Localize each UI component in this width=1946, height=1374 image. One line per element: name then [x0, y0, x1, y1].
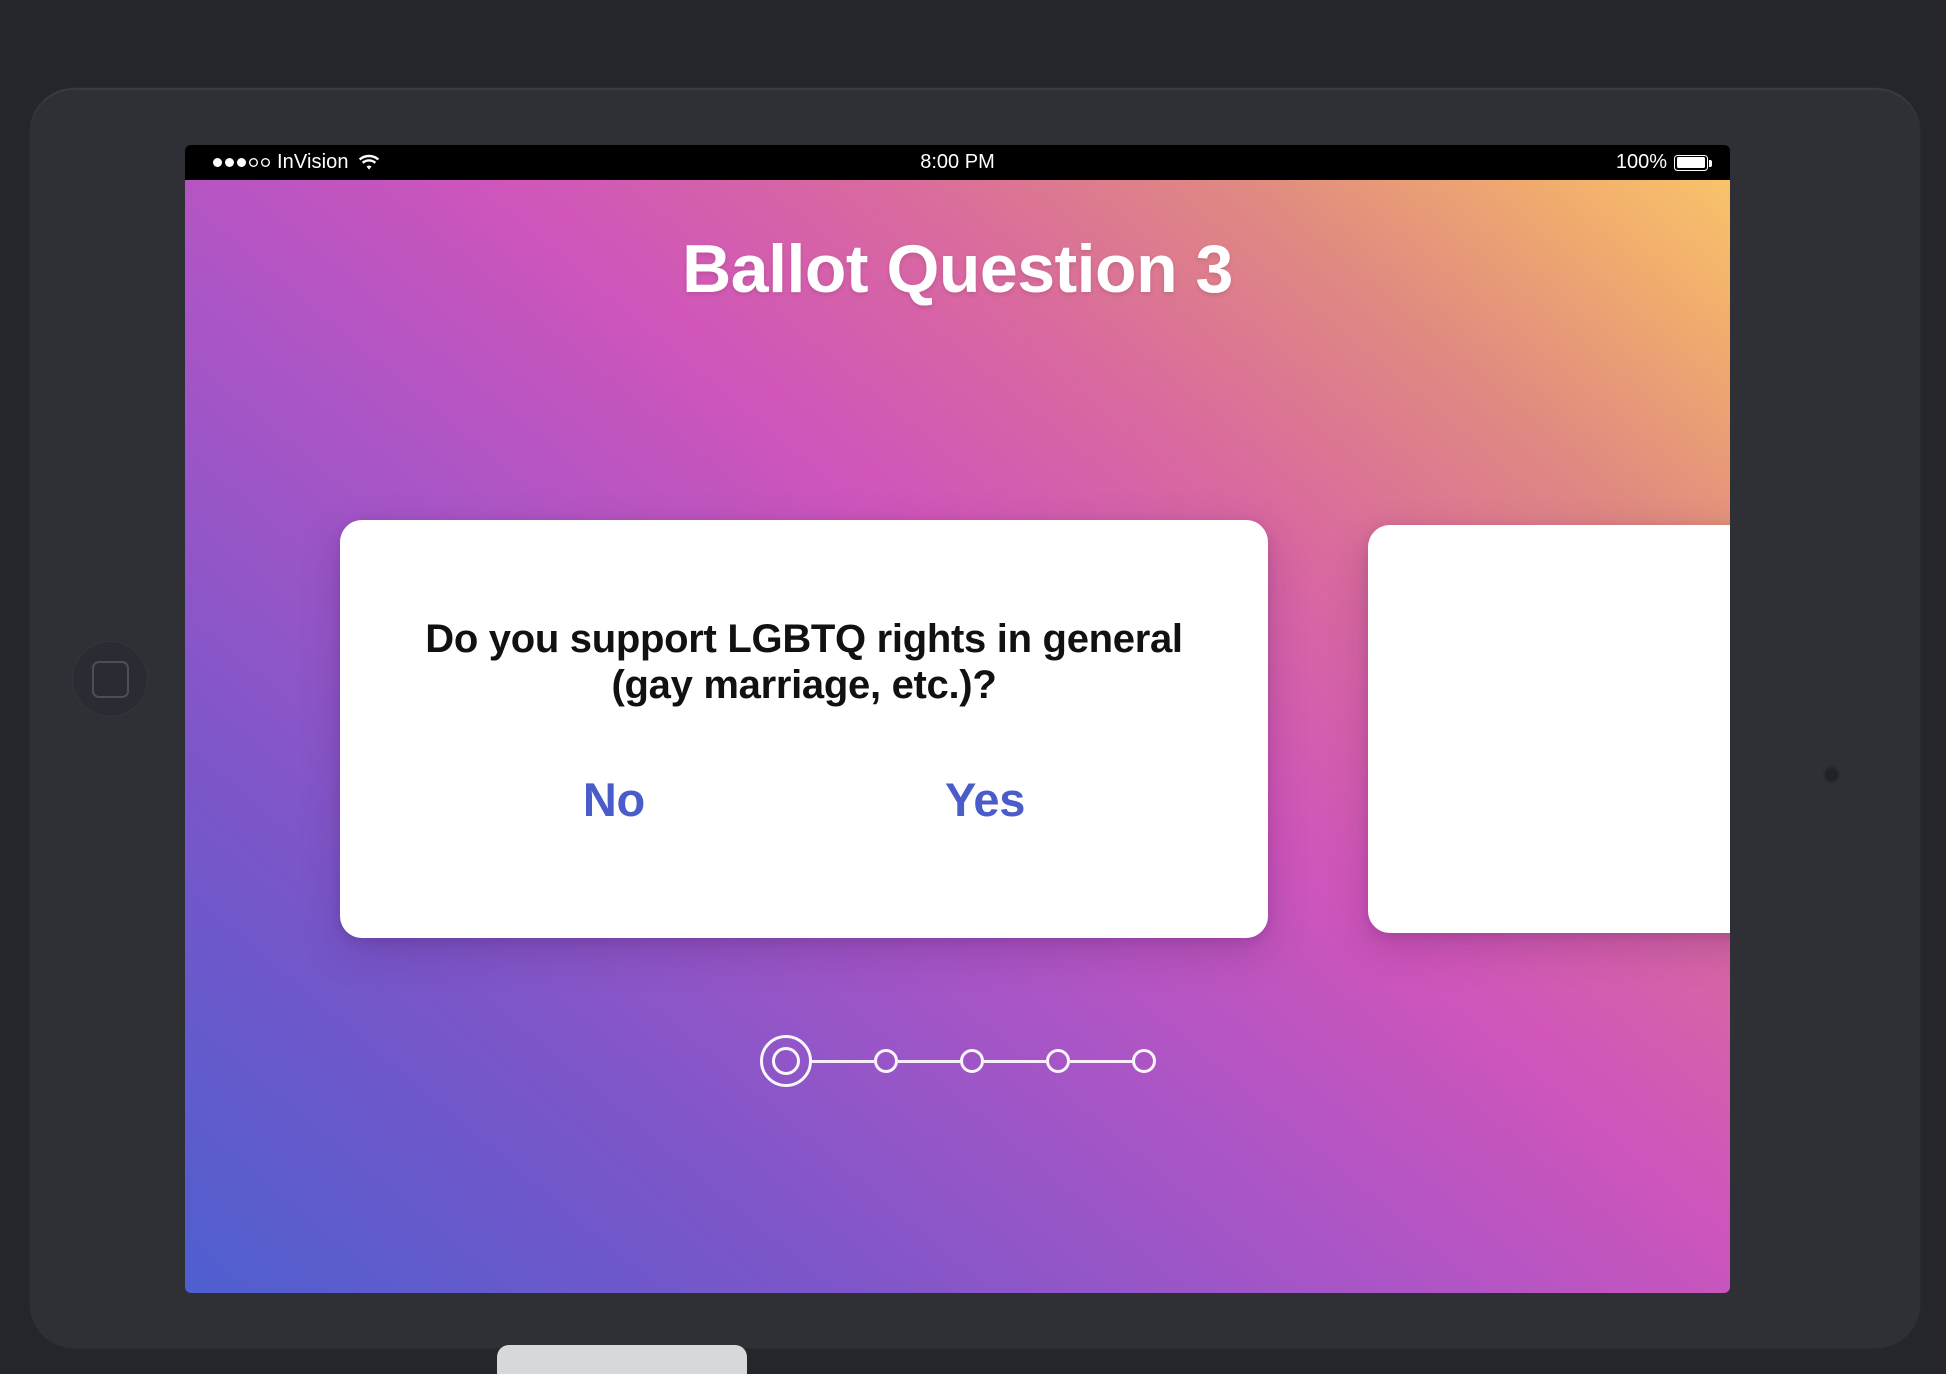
- app-background: Ballot Question 3 Do you support LGBTQ r…: [185, 180, 1730, 1293]
- step-dot-2[interactable]: [874, 1049, 898, 1073]
- bottom-sheet-handle[interactable]: [497, 1345, 747, 1374]
- question-card: Do you support LGBTQ rights in general (…: [340, 520, 1268, 938]
- step-dot-1-inner: [772, 1047, 800, 1075]
- answer-yes-button[interactable]: Yes: [945, 772, 1025, 827]
- step-dot-5[interactable]: [1132, 1049, 1156, 1073]
- status-bar-right: 100%: [1616, 151, 1708, 174]
- device-frame: InVision 8:00 PM 100%: [30, 88, 1920, 1348]
- step-dot-1[interactable]: [760, 1035, 812, 1087]
- battery-full-icon: [1674, 155, 1708, 171]
- answer-buttons: No Yes: [340, 772, 1268, 827]
- screenshot-root: InVision 8:00 PM 100%: [0, 0, 1946, 1374]
- status-bar-time: 8:00 PM: [185, 151, 1730, 174]
- status-bar: InVision 8:00 PM 100%: [185, 145, 1730, 180]
- step-dot-3[interactable]: [960, 1049, 984, 1073]
- device-screen: InVision 8:00 PM 100%: [185, 145, 1730, 1293]
- page-title: Ballot Question 3: [185, 230, 1730, 308]
- step-line-4: [1070, 1060, 1132, 1063]
- step-dot-4[interactable]: [1046, 1049, 1070, 1073]
- next-question-card[interactable]: [1368, 525, 1730, 933]
- step-indicator: [185, 1035, 1730, 1087]
- step-line-1: [812, 1060, 874, 1063]
- answer-no-button[interactable]: No: [583, 772, 645, 827]
- camera-icon: [1823, 766, 1840, 783]
- home-button-square-glyph: [92, 661, 129, 698]
- step-line-3: [984, 1060, 1046, 1063]
- battery-percent-label: 100%: [1616, 151, 1667, 174]
- home-button-icon[interactable]: [72, 641, 148, 717]
- question-text: Do you support LGBTQ rights in general (…: [388, 616, 1220, 709]
- step-line-2: [898, 1060, 960, 1063]
- battery-fill: [1677, 157, 1706, 168]
